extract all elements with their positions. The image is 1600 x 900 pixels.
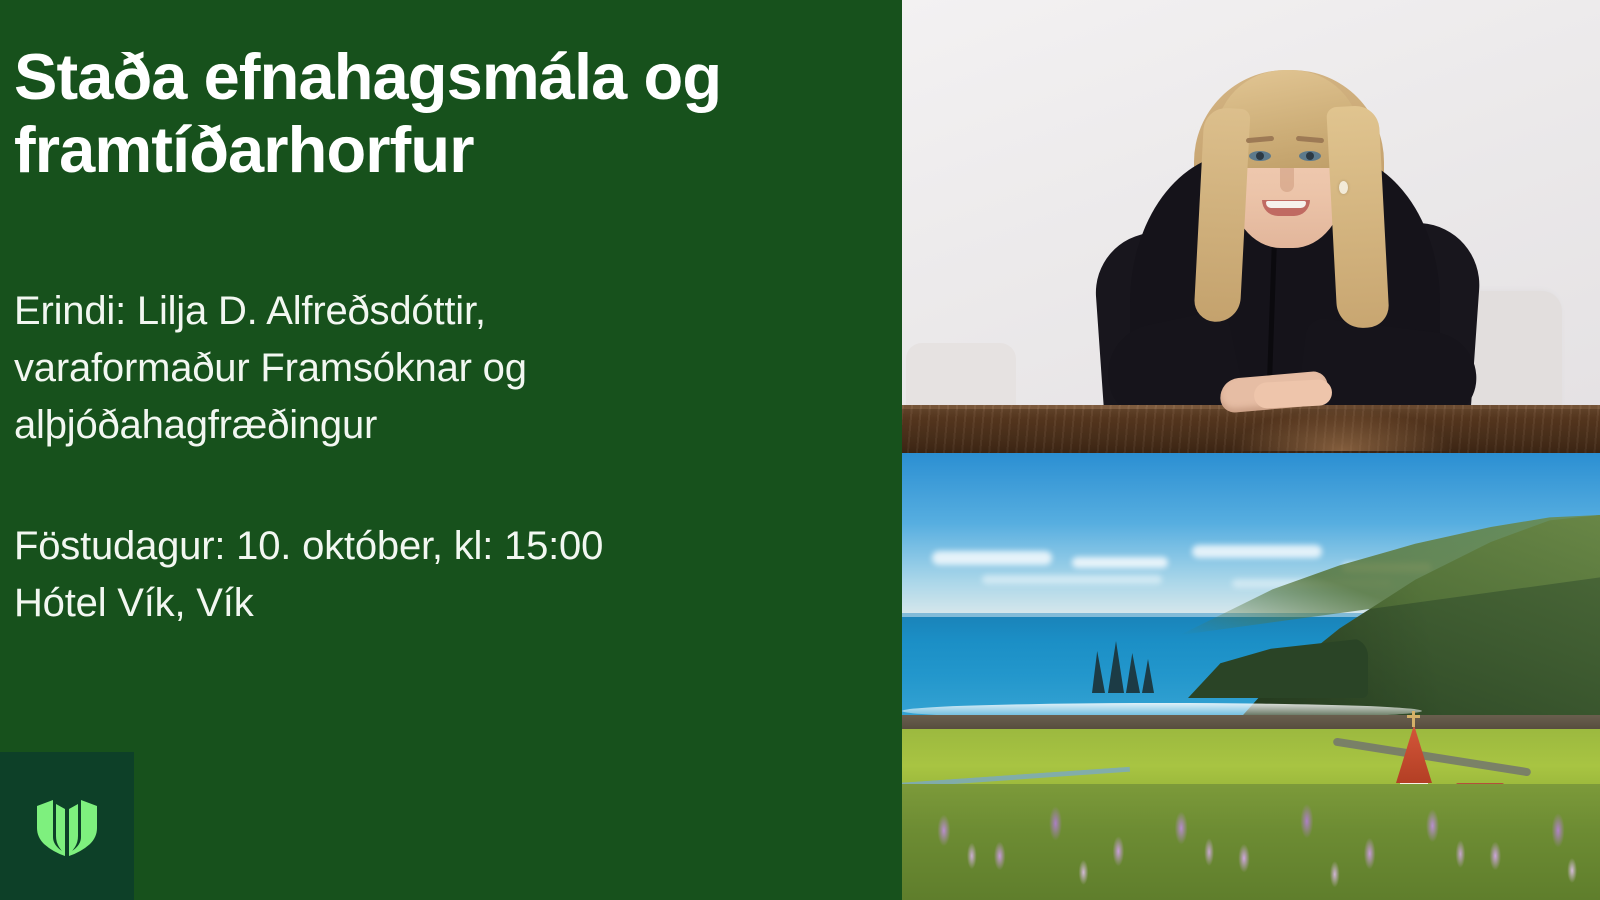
speaker-details: Erindi: Lilja D. Alfreðsdóttir, varaform…: [14, 283, 714, 453]
event-details: Föstudagur: 10. október, kl: 15:00 Hótel…: [14, 518, 874, 632]
page-title: Staða efnahagsmála og framtíðarhorfur: [14, 40, 864, 187]
speaker-portrait-photo: [902, 0, 1600, 453]
event-poster: Staða efnahagsmála og framtíðarhorfur Er…: [0, 0, 1600, 900]
framsokn-leaf-icon: [29, 788, 105, 864]
text-panel: Staða efnahagsmála og framtíðarhorfur Er…: [0, 0, 902, 900]
logo-tile: [0, 752, 134, 900]
vik-landscape-photo: [902, 453, 1600, 900]
photo-column: [902, 0, 1600, 900]
